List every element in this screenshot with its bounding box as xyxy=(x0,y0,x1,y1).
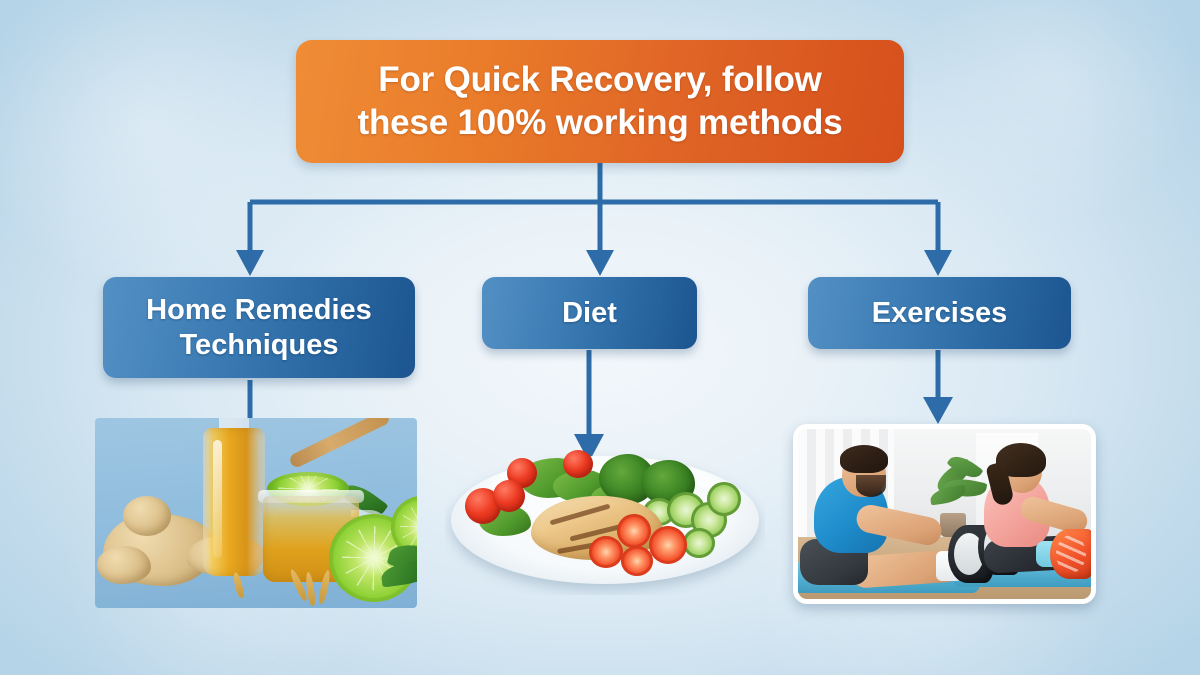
tomato-slice-icon xyxy=(589,536,623,568)
title-text: For Quick Recovery, follow these 100% wo… xyxy=(358,59,843,144)
tomato-slice-icon xyxy=(649,526,687,564)
ginger-knob-icon xyxy=(123,496,171,536)
tomato-slice-icon xyxy=(621,546,653,576)
title-line-1: For Quick Recovery, follow xyxy=(358,59,843,102)
node-diet-label: Diet xyxy=(562,296,617,330)
tomato-icon xyxy=(493,480,525,512)
arrowhead-diet xyxy=(586,250,614,276)
node-home-remedies-label: Home Remedies Techniques xyxy=(146,293,372,361)
node-home-remedies-line-2: Techniques xyxy=(146,328,372,362)
node-exercises[interactable]: Exercises xyxy=(808,277,1071,349)
cucumber-slice-icon xyxy=(707,482,741,516)
diet-photo xyxy=(445,440,765,595)
node-exercises-label: Exercises xyxy=(872,296,1007,330)
man-beard xyxy=(856,475,886,497)
home-remedies-photo xyxy=(95,418,417,608)
ginger-knob-icon xyxy=(97,546,151,584)
arrowhead-exercises xyxy=(924,250,952,276)
tomato-slice-icon xyxy=(617,514,651,548)
lime-segments xyxy=(400,505,417,550)
cucumber-slice-icon xyxy=(683,528,715,558)
honey-dipper-head-icon xyxy=(283,504,309,544)
tomato-icon xyxy=(563,450,593,478)
bottle-highlight xyxy=(213,440,222,558)
arrowhead-exercises-photo xyxy=(923,397,953,424)
node-diet[interactable]: Diet xyxy=(482,277,697,349)
title-line-2: these 100% working methods xyxy=(358,102,843,145)
infographic-canvas: For Quick Recovery, follow these 100% wo… xyxy=(0,0,1200,675)
exercises-photo xyxy=(793,424,1096,604)
shoe-tread xyxy=(1056,535,1086,573)
man-hair xyxy=(840,445,888,473)
arrowhead-home-remedies xyxy=(236,250,264,276)
node-home-remedies[interactable]: Home Remedies Techniques xyxy=(103,277,415,378)
node-home-remedies-line-1: Home Remedies xyxy=(146,293,372,327)
title-box[interactable]: For Quick Recovery, follow these 100% wo… xyxy=(296,40,904,163)
